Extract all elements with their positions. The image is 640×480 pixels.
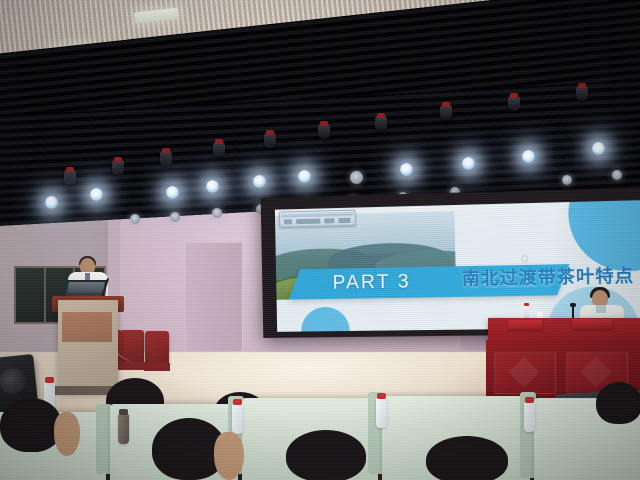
slide-decor-circle [301, 307, 350, 332]
table-panel-motif [580, 356, 611, 387]
stage-light-fixture [576, 86, 588, 101]
spotlight-dim [130, 214, 140, 224]
spotlight [253, 175, 266, 188]
toolbar-button-2[interactable] [296, 219, 320, 225]
stage-light-fixture [160, 151, 172, 166]
stage-light-fixture [264, 133, 276, 148]
name-placard [572, 319, 612, 329]
panelist-collar [596, 305, 606, 313]
audience-head [286, 430, 366, 480]
toolbar-button-1[interactable] [284, 219, 292, 224]
spotlight [592, 142, 605, 155]
toolbar-titlebar [281, 212, 354, 218]
water-bottle [118, 414, 129, 444]
spotlight [90, 188, 103, 201]
spotlight [462, 157, 475, 170]
slide-title: 南北过渡带茶叶特点 [462, 265, 640, 291]
podium-front-panel [62, 312, 112, 342]
toolbar-button-4[interactable] [338, 218, 350, 223]
spotlight-dim [562, 175, 572, 185]
audience-face [54, 412, 80, 456]
table-panel [494, 352, 556, 394]
slide-decor-circle [567, 200, 640, 273]
toolbar-button-3[interactable] [324, 218, 334, 223]
slide-part-label: PART 3 [332, 269, 456, 295]
spotlight-dim [612, 170, 622, 180]
stage-light-fixture [318, 124, 330, 139]
audience-head [596, 382, 640, 424]
audience-face [214, 432, 244, 480]
table-panel-motif [508, 356, 539, 387]
spotlight-dim [170, 212, 180, 222]
stage-chair-seat [144, 363, 170, 371]
stage-light-fixture [112, 160, 124, 175]
stage-light-fixture [64, 170, 76, 185]
stage-light-fixture [213, 142, 225, 157]
spotlight [522, 150, 535, 163]
spotlight [45, 196, 58, 209]
stage-door-left [185, 242, 243, 351]
name-placard [508, 320, 542, 330]
window-mullion [44, 268, 46, 322]
water-bottle [376, 398, 387, 428]
spotlight [166, 186, 179, 199]
water-bottle [232, 404, 243, 434]
stage-light-fixture [440, 105, 452, 120]
audience-head [426, 436, 508, 480]
audience-head [0, 398, 62, 452]
spotlight [298, 170, 311, 183]
spotlight-dim [212, 208, 222, 218]
presentation-floating-toolbar[interactable] [279, 210, 356, 228]
stage-light-fixture [508, 96, 520, 111]
spotlight [206, 180, 219, 193]
speaker-cone [0, 367, 27, 396]
laptop-screen [68, 282, 105, 293]
water-bottle [524, 402, 535, 432]
mouse-pointer-icon [523, 256, 529, 263]
stage-light-fixture [375, 116, 387, 131]
spotlight [400, 163, 413, 176]
spotlight-dim [350, 171, 363, 184]
conference-hall-photo: PART 3 南北过渡带茶叶特点 [0, 0, 640, 480]
